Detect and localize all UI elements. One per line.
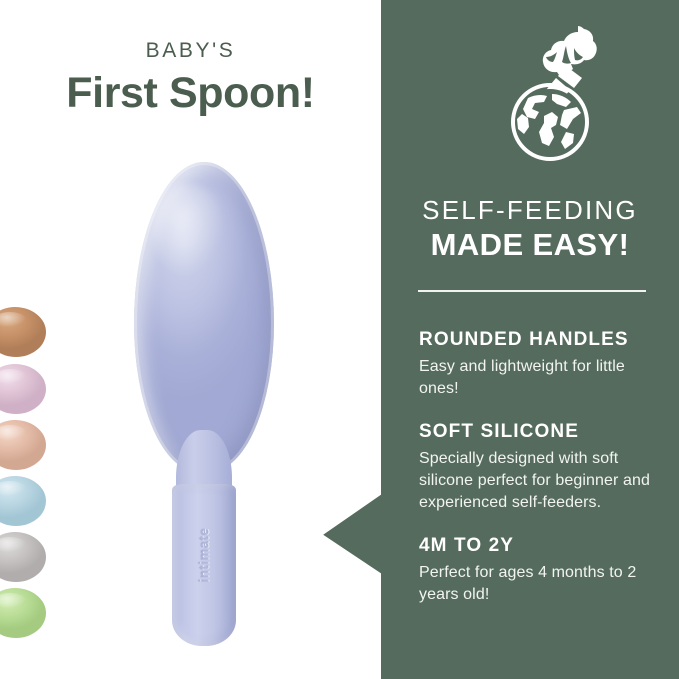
panel-title-line1: SELF-FEEDING bbox=[381, 196, 679, 225]
spoon-bowl bbox=[134, 162, 274, 472]
page-title: First Spoon! bbox=[0, 72, 381, 116]
swatch-bowl bbox=[0, 307, 46, 357]
feature-title: SOFT SILICONE bbox=[419, 422, 655, 443]
swatch-bowl bbox=[0, 420, 46, 470]
main-spoon[interactable]: intimate bbox=[128, 162, 280, 647]
swatch-bowl bbox=[0, 588, 46, 638]
left-panel: BABY'S First Spoon! bbox=[0, 0, 381, 679]
swatch-spoon-caramel[interactable] bbox=[0, 306, 60, 358]
swatch-bowl bbox=[0, 532, 46, 582]
globe-with-sprout-icon bbox=[500, 24, 620, 172]
feature-body: Perfect for ages 4 months to 2 years old… bbox=[419, 562, 655, 606]
eyebrow-text: BABY'S bbox=[0, 40, 381, 61]
swatch-bowl bbox=[0, 364, 46, 414]
swatch-bowl bbox=[0, 476, 46, 526]
spoon-handle: intimate bbox=[172, 484, 236, 646]
feature-item-soft-silicone: SOFT SILICONE Specially designed with so… bbox=[419, 422, 655, 514]
feature-item-age-range: 4M TO 2Y Perfect for ages 4 months to 2 … bbox=[419, 536, 655, 606]
swatch-spoon-grey[interactable] bbox=[0, 531, 60, 583]
swatch-spoon-blue[interactable] bbox=[0, 475, 60, 527]
headline-block: BABY'S First Spoon! bbox=[0, 40, 381, 116]
feature-list: ROUNDED HANDLES Easy and lightweight for… bbox=[419, 330, 655, 606]
color-swatch-strip bbox=[0, 306, 60, 646]
swatch-spoon-green[interactable] bbox=[0, 587, 60, 639]
panel-title: SELF-FEEDING MADE EASY! bbox=[381, 196, 679, 261]
product-infographic: BABY'S First Spoon! bbox=[0, 0, 679, 679]
feature-item-rounded-handles: ROUNDED HANDLES Easy and lightweight for… bbox=[419, 330, 655, 400]
spoon-brand-emboss: intimate bbox=[197, 528, 212, 583]
panel-title-line2: MADE EASY! bbox=[381, 229, 679, 262]
swatch-spoon-peach[interactable] bbox=[0, 419, 60, 471]
feature-title: ROUNDED HANDLES bbox=[419, 330, 655, 351]
title-divider bbox=[418, 290, 646, 292]
swatch-spoon-pink[interactable] bbox=[0, 363, 60, 415]
feature-title: 4M TO 2Y bbox=[419, 536, 655, 557]
feature-body: Specially designed with soft silicone pe… bbox=[419, 448, 655, 514]
feature-body: Easy and lightweight for little ones! bbox=[419, 356, 655, 400]
spoon-bowl-highlight bbox=[152, 184, 225, 277]
